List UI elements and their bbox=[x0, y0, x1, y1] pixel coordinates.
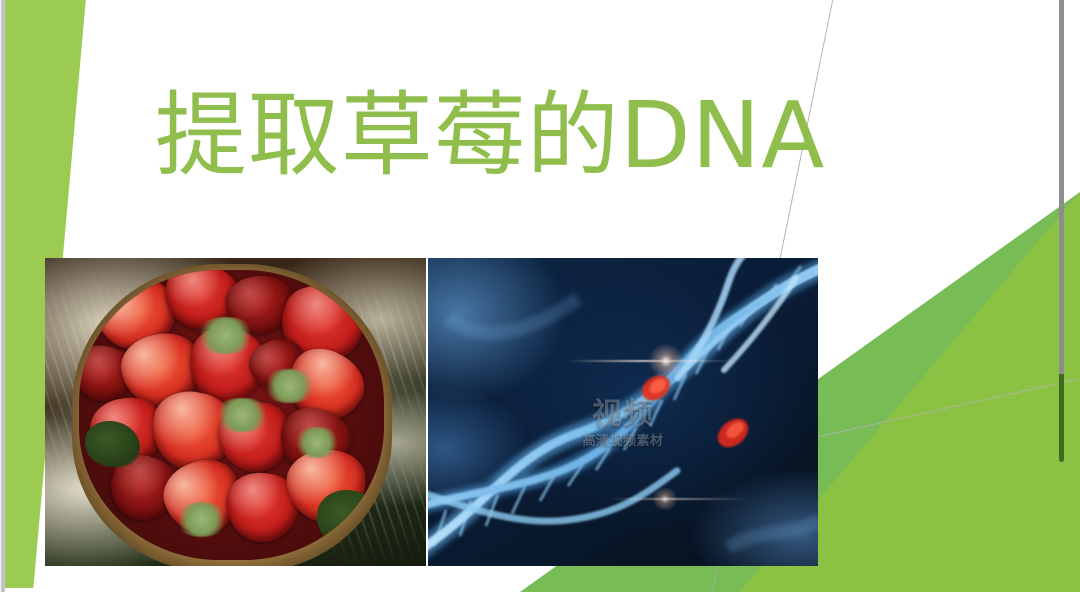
presentation-slide: 提取草莓的DNA bbox=[0, 0, 1080, 592]
left-gray-edge-bar bbox=[0, 0, 5, 592]
strawberry-calyx bbox=[195, 317, 256, 355]
slide-title: 提取草莓的DNA bbox=[60, 86, 920, 185]
lens-flare-streak bbox=[608, 498, 748, 500]
strawberries-photo bbox=[45, 258, 426, 566]
dna-photo: 视频 高清视频素材 bbox=[428, 258, 818, 566]
right-vertical-bar-green-overlap bbox=[1059, 374, 1064, 462]
strawberry-calyx bbox=[174, 502, 229, 537]
lens-flare-streak bbox=[566, 360, 736, 362]
strawberry-cluster bbox=[79, 270, 384, 560]
dna-double-helix-illustration bbox=[428, 258, 818, 566]
